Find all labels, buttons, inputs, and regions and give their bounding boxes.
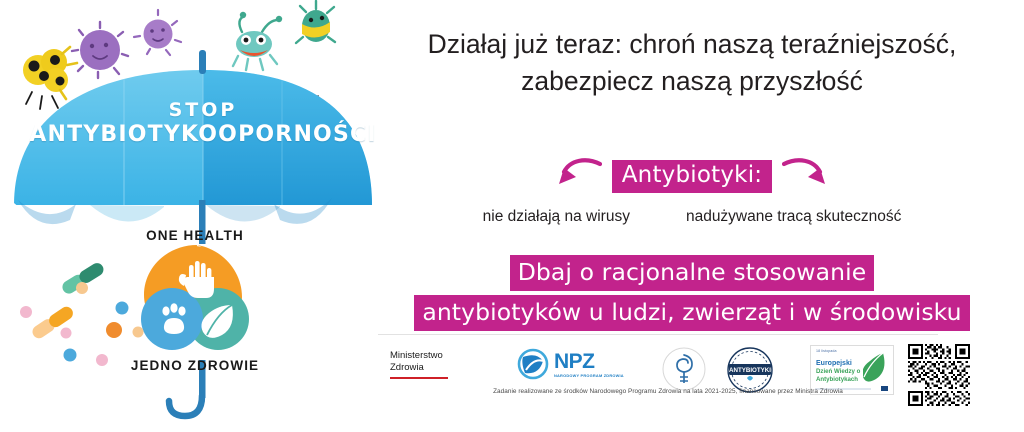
- call-to-action: Dbaj o racjonalne stosowanie antybiotykó…: [360, 255, 1024, 331]
- ministry-of-health-logo: Ministerstwo Zdrowia: [390, 350, 448, 379]
- headline-line2: zabezpiecz naszą przyszłość: [360, 63, 1024, 100]
- eu-badge-date: 18 listopada: [816, 349, 837, 353]
- eu-badge-line1: Europejski: [816, 360, 852, 368]
- germ-purple-small-icon: [134, 10, 181, 55]
- umbrella-finial: [199, 50, 206, 74]
- eu-badge-line3: Antybiotykach: [816, 376, 858, 383]
- ministry-red-bar: [390, 377, 448, 379]
- tablet-pink-2-icon: [61, 328, 72, 339]
- pills-cluster: [20, 261, 144, 366]
- tablet-blue-icon: [116, 302, 129, 315]
- ministry-line1: Ministerstwo: [390, 350, 448, 362]
- antibiotics-banner: Antybiotyki:: [360, 158, 1024, 194]
- germ-orange-teal-icon: [233, 12, 282, 70]
- antibiotics-facts: nie działają na wirusy nadużywane tracą …: [360, 208, 1024, 226]
- curved-arrow-left-icon: [556, 158, 602, 194]
- umbrella-illustration: STOP ANTYBIOTYKOOPORNOŚCI ONE HEALTH JED…: [0, 0, 390, 432]
- headline-line1: Działaj już teraz: chroń naszą teraźniej…: [360, 26, 1024, 63]
- npz-mark-icon: [516, 348, 550, 380]
- one-health-logo: [141, 245, 249, 350]
- npz-logo: NPZ NARODOWY PROGRAM ZDROWIA: [516, 348, 624, 380]
- footer-divider: [378, 334, 938, 335]
- footer: Ministerstwo Zdrowia NPZ NARODOWY PROGRA…: [378, 334, 1024, 432]
- germ-green-icon: [296, 1, 335, 43]
- one-health-label-top: ONE HEALTH: [0, 228, 390, 243]
- germ-purple-large-icon: [72, 22, 128, 78]
- eu-badge-leaf-icon: [863, 351, 889, 385]
- one-health-label-bottom: JEDNO ZDROWIE: [0, 358, 390, 373]
- cta-line1: Dbaj o racjonalne stosowanie: [510, 255, 875, 291]
- tablet-peach-icon: [76, 282, 88, 294]
- eu-badge-line2: Dzień Wiedzy o: [816, 368, 860, 375]
- funding-disclaimer: Zadanie realizowane ze środków Narodoweg…: [378, 388, 958, 395]
- cta-line2: antybiotyków u ludzi, zwierząt i w środo…: [414, 295, 969, 331]
- antibiotics-fact-0: nie działają na wirusy: [483, 208, 630, 226]
- npz-acronym: NPZ: [554, 351, 624, 372]
- ministry-line2: Zdrowia: [390, 362, 448, 374]
- tablet-orange-icon: [106, 322, 122, 338]
- stamp-banner-text: ANTYBIOTYKI: [729, 367, 771, 374]
- antibiotics-fact-1: nadużywane tracą skuteczność: [686, 208, 901, 226]
- tablet-pink-icon: [20, 306, 32, 318]
- tablet-peach-2-icon: [133, 327, 144, 338]
- poster-canvas: STOP ANTYBIOTYKOOPORNOŚCI ONE HEALTH JED…: [0, 0, 1024, 432]
- qr-code[interactable]: [908, 344, 970, 406]
- npz-subtitle: NARODOWY PROGRAM ZDROWIA: [554, 374, 624, 378]
- antibiotics-chip: Antybiotyki:: [612, 160, 773, 193]
- germ-yellow-black-icon: [23, 47, 77, 109]
- curved-arrow-right-icon: [782, 158, 828, 194]
- headline: Działaj już teraz: chroń naszą teraźniej…: [360, 26, 1024, 100]
- gis-seal-logo: [661, 346, 707, 392]
